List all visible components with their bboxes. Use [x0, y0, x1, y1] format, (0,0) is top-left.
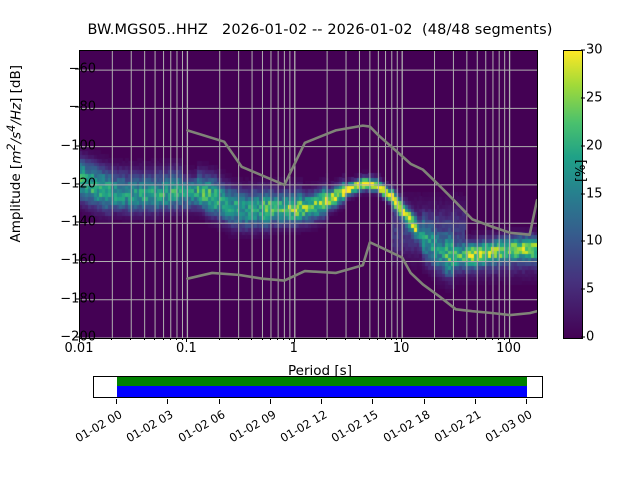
colorbar-label: [%]	[574, 102, 589, 182]
timeline-tick-label: 01-02 06	[175, 408, 225, 445]
y-tick-mark	[75, 222, 79, 223]
x-tick-mark	[251, 338, 252, 340]
x-tick-mark	[504, 338, 505, 340]
x-tick-mark	[130, 338, 131, 340]
x-tick-mark	[144, 338, 145, 340]
timeline-tick-label: 01-02 00	[73, 408, 123, 445]
x-tick-mark	[163, 338, 164, 340]
y-tick-mark	[75, 107, 79, 108]
timeline-tick-mark	[116, 399, 117, 404]
timeline-tick-mark	[424, 399, 425, 404]
x-tick-mark	[182, 338, 183, 340]
x-tick-mark	[498, 338, 499, 340]
y-tick-mark	[75, 69, 79, 70]
colorbar-tick-mark	[581, 337, 585, 338]
x-tick-mark	[391, 338, 392, 340]
x-tick-mark	[359, 338, 360, 340]
colorbar-tick-mark	[581, 97, 585, 98]
timeline-tick-mark	[167, 399, 168, 404]
x-tick-mark	[176, 338, 177, 340]
x-tick-mark	[385, 338, 386, 340]
timeline-tick-label: 01-03 00	[483, 408, 533, 445]
colorbar	[563, 50, 583, 339]
x-tick-mark	[434, 338, 435, 340]
timeline-tick-label: 01-02 09	[226, 408, 276, 445]
colorbar-tick-mark	[581, 289, 585, 290]
timeline-tick-label: 01-02 15	[329, 408, 379, 445]
x-tick-mark	[345, 338, 346, 340]
x-tick-mark	[270, 338, 271, 340]
colorbar-tick-label: 10	[586, 234, 603, 249]
x-tick-mark	[492, 338, 493, 340]
x-tick-mark	[377, 338, 378, 340]
colorbar-tick-label: 15	[586, 186, 603, 201]
y-tick-label: −60	[69, 62, 96, 77]
colorbar-tick-label: 30	[586, 43, 603, 58]
x-tick-mark	[219, 338, 220, 340]
timeline-tick-label: 01-02 12	[278, 408, 328, 445]
noise-model-curves	[80, 51, 537, 338]
segment-timeline[interactable]	[93, 376, 543, 398]
y-axis-label: Amplitude [m2/s4/Hz] [dB]	[4, 0, 24, 354]
timeline-tick-mark	[321, 399, 322, 404]
x-tick-label: 1	[290, 341, 298, 356]
x-tick-mark	[289, 338, 290, 340]
x-tick-mark	[485, 338, 486, 340]
x-tick-mark	[326, 338, 327, 340]
colorbar-tick-label: 5	[586, 282, 594, 297]
y-tick-mark	[75, 145, 79, 146]
timeline-tick-label: 01-02 21	[431, 408, 481, 445]
timeline-tick-mark	[219, 399, 220, 404]
colorbar-tick-mark	[581, 241, 585, 242]
x-tick-mark	[369, 338, 370, 340]
y-tick-mark	[75, 298, 79, 299]
plot-title: BW.MGS05..HHZ 2026-01-02 -- 2026-01-02 (…	[0, 22, 640, 38]
timeline-tick-mark	[475, 399, 476, 404]
x-tick-mark	[262, 338, 263, 340]
timeline-tick-label: 01-02 18	[380, 408, 430, 445]
ppsd-figure: BW.MGS05..HHZ 2026-01-02 -- 2026-01-02 (…	[0, 0, 640, 480]
y-tick-mark	[75, 183, 79, 184]
x-tick-mark	[396, 338, 397, 340]
timeline-tick-mark	[270, 399, 271, 404]
x-tick-mark	[170, 338, 171, 340]
x-tick-mark	[452, 338, 453, 340]
plot-clip	[80, 51, 537, 338]
x-tick-label: 100	[496, 341, 521, 356]
x-tick-mark	[111, 338, 112, 340]
ppsd-axes[interactable]	[79, 50, 538, 339]
x-tick-mark	[476, 338, 477, 340]
colorbar-tick-label: 0	[586, 330, 594, 345]
x-tick-mark	[283, 338, 284, 340]
x-tick-label: 0.01	[65, 341, 94, 356]
x-tick-mark	[154, 338, 155, 340]
x-tick-mark	[238, 338, 239, 340]
x-tick-label: 0.1	[176, 341, 197, 356]
x-tick-label: 10	[393, 341, 410, 356]
timeline-coverage-green	[117, 377, 527, 386]
y-tick-label: −80	[69, 100, 96, 115]
x-tick-mark	[466, 338, 467, 340]
colorbar-tick-mark	[581, 50, 585, 51]
timeline-tick-mark	[526, 399, 527, 404]
timeline-tick-mark	[372, 399, 373, 404]
colorbar-tick-mark	[581, 193, 585, 194]
timeline-tick-label: 01-02 03	[124, 408, 174, 445]
timeline-coverage-blue	[117, 386, 527, 397]
y-tick-mark	[75, 260, 79, 261]
x-tick-mark	[277, 338, 278, 340]
